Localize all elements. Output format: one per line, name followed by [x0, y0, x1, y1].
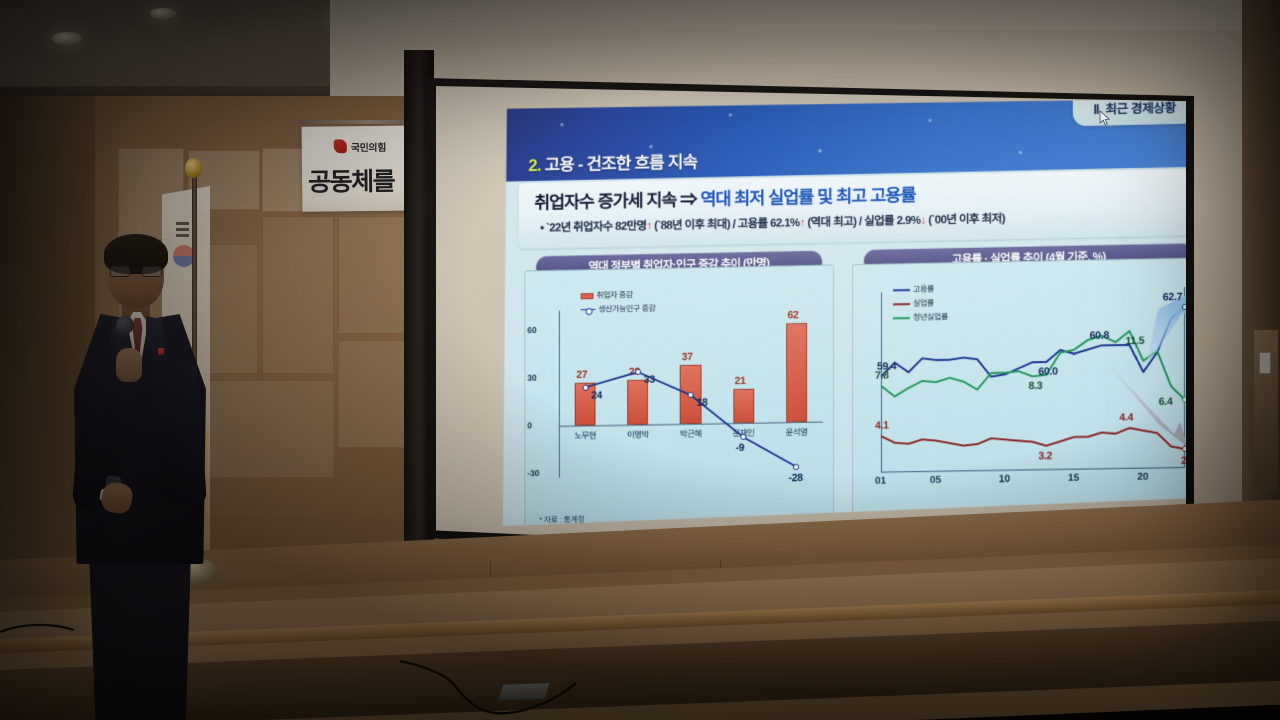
screen-surface: Ⅱ. 최근 경제상황 2. 고용 - 건조한 흐름 지속 취업자수 증가세 지속…: [436, 86, 1186, 564]
presenter-lapel-pin-icon: [158, 348, 164, 355]
data-point-label: 62.7: [1163, 291, 1182, 303]
mouse-cursor-icon: [1099, 110, 1111, 127]
y-axis-line: [559, 311, 560, 478]
data-point-label: 4.1: [875, 420, 889, 432]
flag-trigram: [176, 228, 189, 231]
presenter-legs: [82, 552, 198, 720]
conference-room: 국민의힘 공동체를 Ⅱ. 최근 경제상황 2.: [0, 0, 1280, 720]
slide-subline: • `22년 취업자수 82만명↑ (`88년 이후 최대) / 고용률 62.…: [540, 210, 1005, 235]
projected-slide: Ⅱ. 최근 경제상황 2. 고용 - 건조한 흐름 지속 취업자수 증가세 지속…: [503, 98, 1221, 551]
arrow-up-icon: ↑: [646, 220, 651, 232]
headline-highlight-b: 최저 실업률 및 최고 고용률: [734, 185, 915, 209]
line-value-label: 18: [697, 397, 708, 409]
bar-chart-area: 취업자 증감 생산가능인구 증감 60300-3027노무현28이명박37박근혜…: [525, 284, 829, 508]
bar: [786, 323, 807, 422]
legend-line-swatch-icon: [581, 309, 596, 310]
headline-plain: 취업자수 증가세 지속 ⇒: [534, 189, 700, 212]
chart-source-note: * 자료 : 통계청: [539, 514, 584, 526]
party-logo-text: 국민의힘: [351, 139, 386, 154]
data-point-label: 8.3: [1029, 380, 1043, 392]
presenter-person: [60, 240, 220, 640]
slide-title-text: 고용 - 건조한 흐름 지속: [545, 153, 698, 175]
slide-title: 2. 고용 - 건조한 흐름 지속: [528, 148, 697, 177]
data-point-label: 60.8: [1090, 329, 1109, 341]
line-point-marker: [582, 384, 588, 390]
line-value-label: 33: [644, 374, 655, 386]
data-point-label: 60.0: [1038, 366, 1057, 378]
projection-screen-assembly: Ⅱ. 최근 경제상황 2. 고용 - 건조한 흐름 지속 취업자수 증가세 지속…: [404, 50, 1194, 570]
legend-item-0: 취업자 증감: [581, 289, 656, 301]
category-label: 박근혜: [675, 427, 707, 439]
bar: [627, 380, 648, 425]
presenter-glasses-icon: [110, 266, 162, 278]
chart-body-line: 고용률 실업률 청년실업률: [852, 257, 1206, 526]
x-axis-tick: 01: [875, 476, 886, 487]
x-axis-tick: 20: [1137, 472, 1148, 483]
party-logo-icon: [334, 139, 347, 153]
legend-label: 취업자 증감: [596, 289, 632, 301]
category-label: 이명박: [622, 428, 654, 440]
headline-box: 취업자수 증가세 지속 ⇒ 역대 최저 실업률 및 최고 고용률 • `22년 …: [518, 169, 1204, 249]
flag-trigram: [176, 222, 189, 225]
floor-cable-2: [0, 612, 90, 652]
data-point-label: 7.8: [875, 370, 889, 382]
x-axis-tick: 05: [930, 475, 941, 486]
category-label: 노무현: [569, 429, 601, 441]
legend-bar-swatch-icon: [581, 293, 594, 299]
line-value-label: -9: [736, 442, 745, 454]
subline-part-3: (역대 최고) / 실업률 2.9%: [807, 215, 920, 229]
ceiling-light-1: [52, 32, 82, 45]
flag-finial-icon: [185, 158, 202, 178]
floor-cable: [400, 615, 580, 720]
chart-body-bar: 취업자 증감 생산가능인구 증감 60300-3027노무현28이명박37박근혜…: [524, 264, 834, 530]
data-point-label: 3.2: [1038, 450, 1052, 462]
subline-part-4: (`00년 이후 최저): [928, 213, 1005, 227]
y-axis-tick: 0: [527, 420, 532, 430]
bar-value-label: 37: [682, 351, 693, 363]
data-point-label: 6.4: [1159, 396, 1173, 408]
line-value-label: -28: [789, 472, 803, 484]
y-axis-tick: 60: [527, 325, 536, 335]
x-axis-tick: 15: [1068, 473, 1079, 484]
slide-title-number: 2.: [528, 156, 540, 175]
data-point-label: 4.4: [1119, 412, 1133, 424]
wall-switch-plate[interactable]: [1259, 352, 1271, 374]
legend-line-swatch-icon: [893, 289, 910, 291]
y-axis-tick: -30: [527, 468, 539, 478]
legend-item-1: 생산가능인구 증감: [581, 303, 656, 315]
chart-panel-bar: 역대 정부별 취업자·인구 증감 추이 (만명) 취업자 증감: [524, 250, 834, 530]
microphone-head-icon: [116, 316, 134, 334]
ceiling-light-2: [150, 8, 176, 19]
legend-label: 생산가능인구 증감: [598, 303, 655, 315]
bar: [733, 389, 754, 423]
arrow-up-icon: ↑: [800, 217, 805, 229]
line-value-label: 24: [591, 389, 602, 401]
flag-trigram: [176, 234, 189, 237]
y-axis-tick: 30: [527, 373, 536, 383]
bar-value-label: 62: [788, 309, 799, 321]
arrow-down-icon: ↓: [920, 215, 925, 227]
subline-part-1: • `22년 취업자수 82만명: [540, 220, 646, 234]
wall-panel: [262, 216, 334, 374]
line-point-marker: [794, 464, 800, 470]
bar-value-label: 27: [576, 369, 587, 381]
category-label: 윤석열: [781, 426, 813, 439]
data-point-label: 11.5: [1125, 335, 1144, 347]
line-chart-area: 고용률 실업률 청년실업률: [853, 276, 1201, 503]
chart-panel-line: 고용률 · 실업률 추이 (4월 기준, %) 고용률: [852, 243, 1206, 526]
bar-chart-legend: 취업자 증감 생산가능인구 증감: [581, 289, 656, 318]
x-axis-tick: 10: [999, 474, 1010, 485]
population-line-series: [525, 284, 829, 508]
headline-highlight-a: 역대: [700, 189, 734, 210]
slide-headline: 취업자수 증가세 지속 ⇒ 역대 최저 실업률 및 최고 고용률: [534, 182, 915, 215]
bar-value-label: 21: [735, 375, 746, 387]
presenter-hand-upper: [116, 348, 142, 382]
line-point-marker: [741, 434, 747, 440]
subline-part-2: (`88년 이후 최대) / 고용률 62.1%: [654, 217, 799, 232]
